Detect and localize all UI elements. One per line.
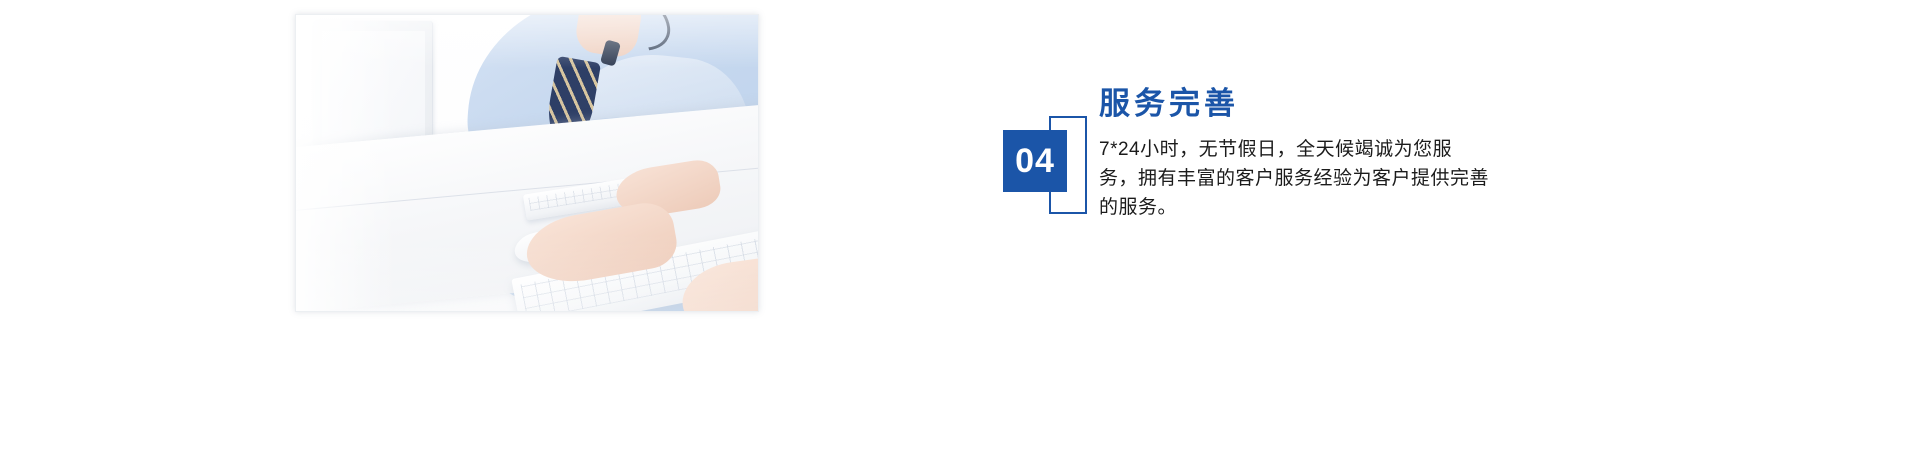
badge-solid-square: 04 <box>1003 130 1067 192</box>
feature-text-column: 服务完善 7*24小时，无节假日，全天候竭诚为您服务，拥有丰富的客户服务经验为客… <box>1099 86 1519 223</box>
feature-title: 服务完善 <box>1099 86 1519 123</box>
feature-number: 04 <box>1015 144 1055 178</box>
service-feature-banner: 04 服务完善 7*24小时，无节假日，全天候竭诚为您服务，拥有丰富的客户服务经… <box>0 0 1920 452</box>
feature-photo-frame <box>295 14 759 312</box>
feature-description: 7*24小时，无节假日，全天候竭诚为您服务，拥有丰富的客户服务经验为客户提供完善… <box>1099 135 1491 223</box>
feature-number-badge: 04 <box>1003 116 1089 216</box>
feature-photo <box>296 15 758 311</box>
